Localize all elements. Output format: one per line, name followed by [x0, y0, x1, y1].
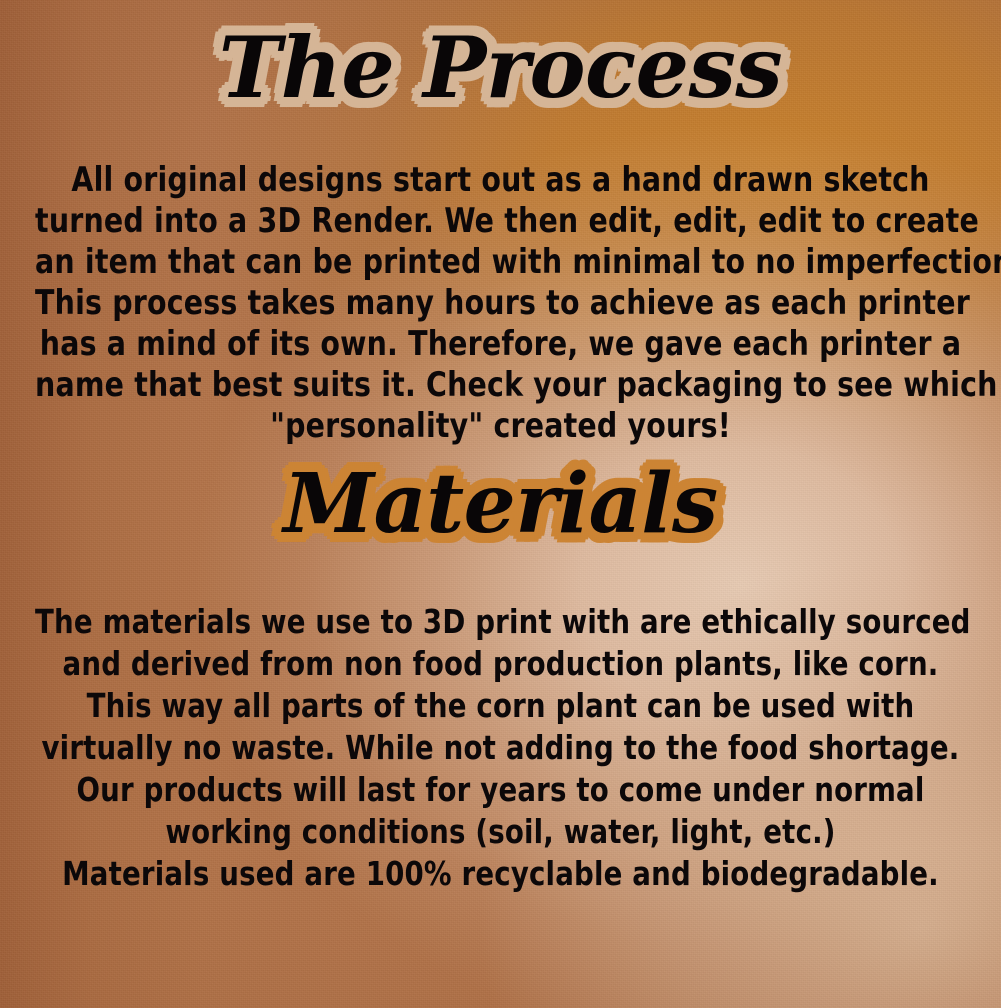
body-line: Materials used are 100% recyclable and b…	[35, 853, 966, 895]
heading-materials: Materials	[0, 463, 1001, 545]
body-line: name that best suits it. Check your pack…	[35, 365, 966, 406]
info-card: The Process All original designs start o…	[0, 0, 1001, 1008]
body-line: working conditions (soil, water, light, …	[35, 811, 966, 853]
card-content: The Process All original designs start o…	[0, 0, 1001, 1008]
body-line: turned into a 3D Render. We then edit, e…	[35, 201, 966, 242]
body-line: This process takes many hours to achieve…	[35, 283, 966, 324]
body-line: All original designs start out as a hand…	[35, 160, 966, 201]
body-line: and derived from non food production pla…	[35, 643, 966, 685]
body-line: Our products will last for years to come…	[35, 769, 966, 811]
heading-the-process: The Process	[0, 26, 1001, 110]
body-line: This way all parts of the corn plant can…	[35, 685, 966, 727]
paragraph-the-process: All original designs start out as a hand…	[0, 160, 1001, 447]
paragraph-materials: The materials we use to 3D print with ar…	[0, 601, 1001, 895]
body-line: has a mind of its own. Therefore, we gav…	[35, 324, 966, 365]
body-line: The materials we use to 3D print with ar…	[35, 601, 966, 643]
body-line: "personality" created yours!	[35, 406, 966, 447]
body-line: an item that can be printed with minimal…	[35, 242, 966, 283]
body-line: virtually no waste. While not adding to …	[35, 727, 966, 769]
